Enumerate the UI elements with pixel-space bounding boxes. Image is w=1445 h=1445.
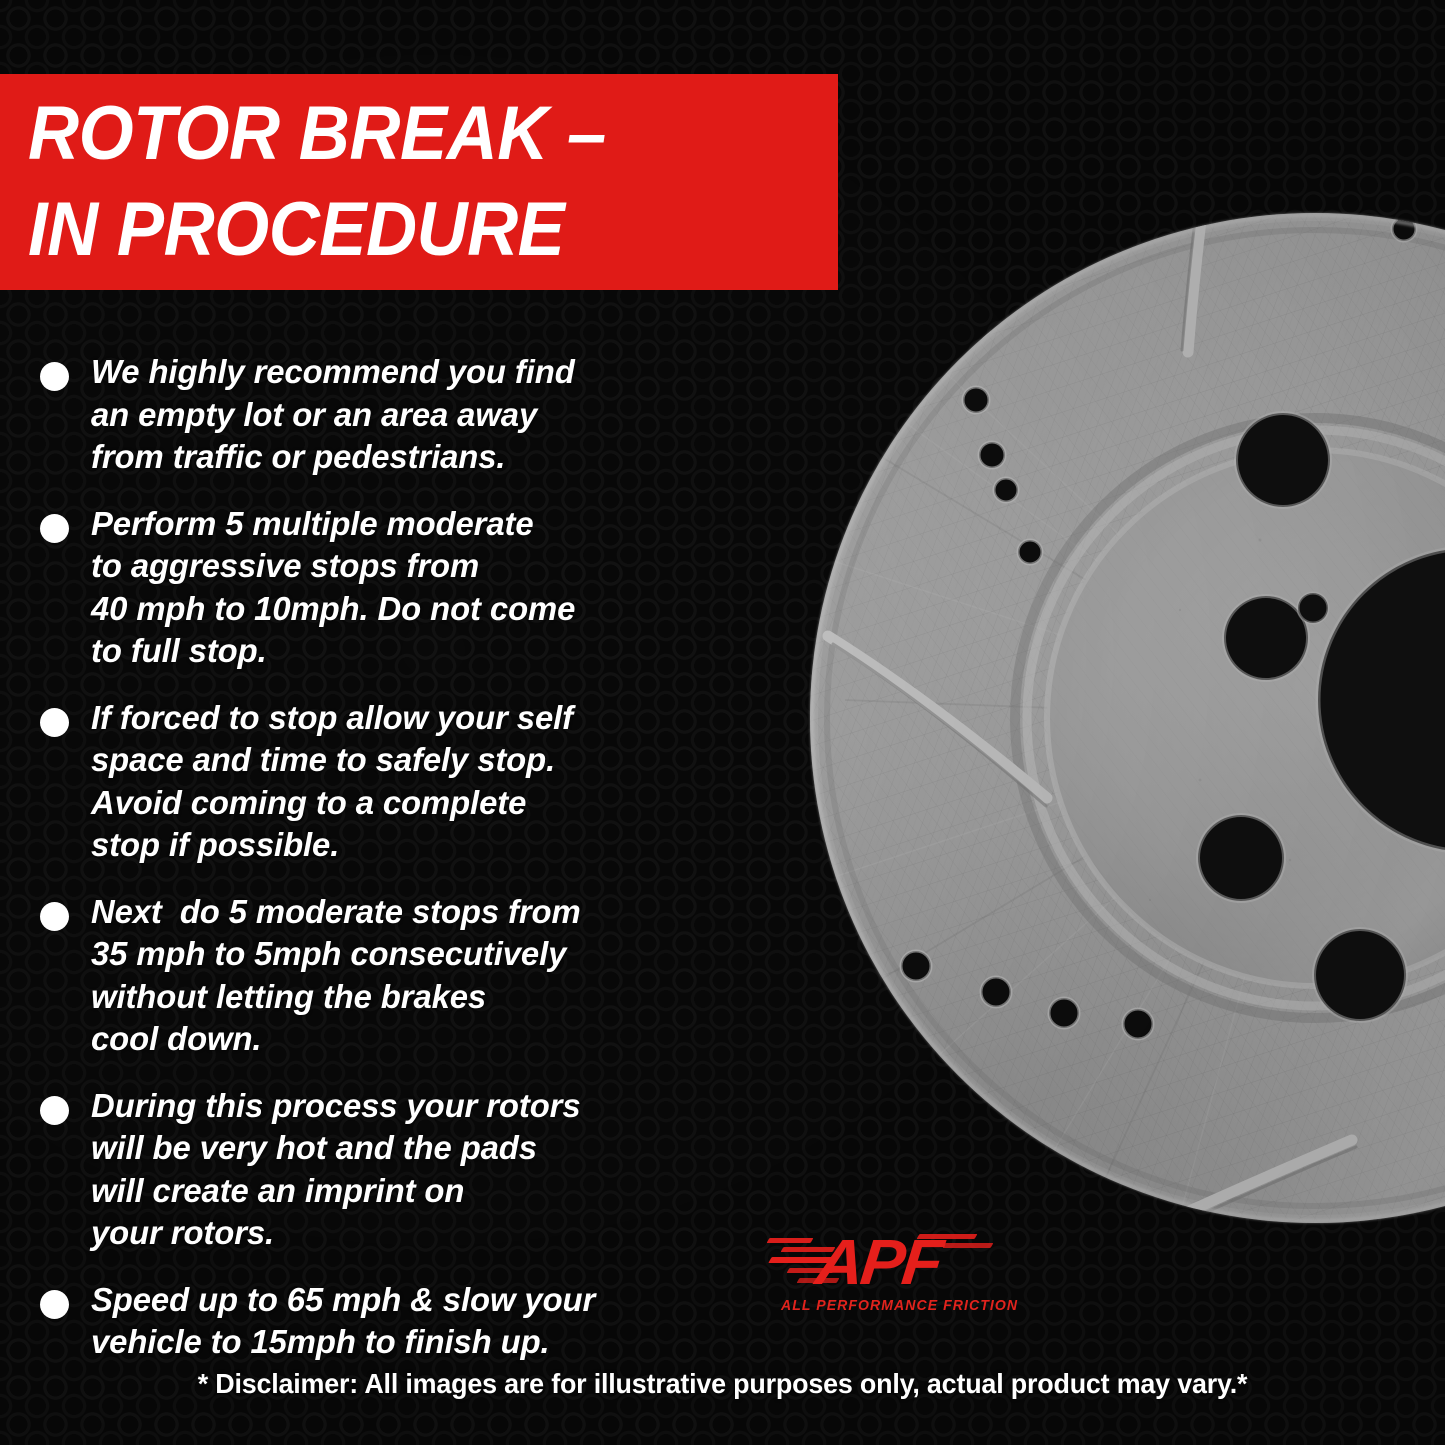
list-item-text: If forced to stop allow your self space … (91, 698, 573, 868)
promo-graphic: ROTOR BREAK – IN PROCEDURE We highly rec… (0, 0, 1445, 1445)
list-item: If forced to stop allow your self space … (40, 698, 760, 868)
disclaimer-text: * Disclaimer: All images are for illustr… (29, 1368, 1416, 1400)
apf-logo-mark: APF (768, 1232, 1003, 1294)
list-item: Perform 5 multiple moderate to aggressiv… (40, 504, 760, 674)
list-item-text: Next do 5 moderate stops from 35 mph to … (91, 892, 581, 1062)
page-title-line-2: IN PROCEDURE (28, 182, 781, 278)
bullet-dot-icon (40, 902, 69, 931)
apf-wordmark: APF (813, 1230, 943, 1294)
bullet-dot-icon (40, 362, 69, 391)
brand-logo-apf: APF ALL PERFORMANCE FRICTION (768, 1232, 1003, 1332)
list-item-text: We highly recommend you find an empty lo… (91, 352, 575, 480)
list-item: During this process your rotors will be … (40, 1086, 760, 1256)
list-item: Speed up to 65 mph & slow your vehicle t… (40, 1280, 760, 1365)
speed-streak-icon (767, 1238, 814, 1243)
speed-streak-icon (943, 1243, 994, 1248)
procedure-step-list: We highly recommend you find an empty lo… (40, 352, 760, 1389)
list-item-text: Perform 5 multiple moderate to aggressiv… (91, 504, 575, 674)
bullet-dot-icon (40, 708, 69, 737)
list-item-text: Speed up to 65 mph & slow your vehicle t… (91, 1280, 595, 1365)
bullet-dot-icon (40, 1290, 69, 1319)
list-item: We highly recommend you find an empty lo… (40, 352, 760, 480)
page-title-banner: ROTOR BREAK – IN PROCEDURE (0, 74, 838, 290)
bullet-dot-icon (40, 1096, 69, 1125)
bullet-dot-icon (40, 514, 69, 543)
list-item-text: During this process your rotors will be … (91, 1086, 580, 1256)
page-title-line-1: ROTOR BREAK – (28, 86, 781, 182)
list-item: Next do 5 moderate stops from 35 mph to … (40, 892, 760, 1062)
apf-tagline: ALL PERFORMANCE FRICTION (781, 1298, 1018, 1314)
